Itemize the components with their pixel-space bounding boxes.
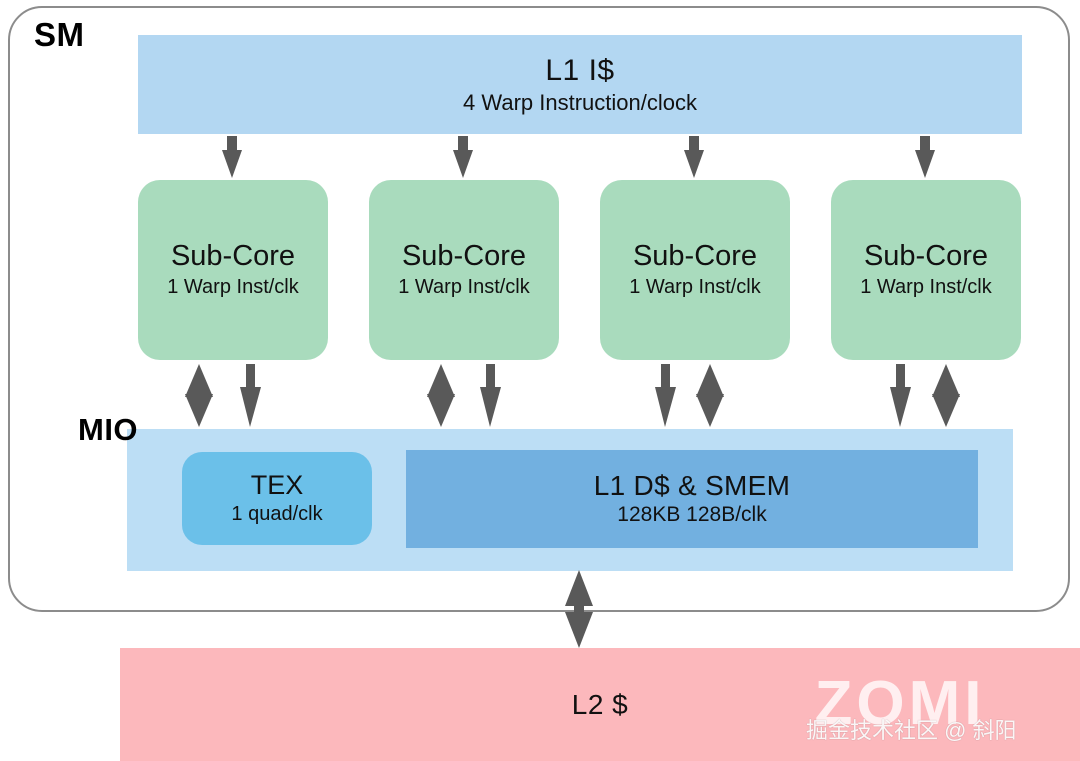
sub-core-subtitle: 1 Warp Inst/clk bbox=[167, 276, 299, 299]
sub-core-subtitle: 1 Warp Inst/clk bbox=[398, 276, 530, 299]
sub-core-title: Sub-Core bbox=[171, 241, 295, 273]
l1-instruction-cache-subtitle: 4 Warp Instruction/clock bbox=[463, 90, 697, 115]
sub-core-block-1: Sub-Core 1 Warp Inst/clk bbox=[138, 180, 328, 360]
sub-core-block-2: Sub-Core 1 Warp Inst/clk bbox=[369, 180, 559, 360]
l2-cache-title: L2 $ bbox=[572, 689, 629, 721]
tex-subtitle: 1 quad/clk bbox=[231, 503, 322, 526]
sub-core-title: Sub-Core bbox=[864, 241, 988, 273]
sub-core-subtitle: 1 Warp Inst/clk bbox=[860, 276, 992, 299]
sub-core-block-3: Sub-Core 1 Warp Inst/clk bbox=[600, 180, 790, 360]
l1-instruction-cache-title: L1 I$ bbox=[545, 54, 614, 88]
tex-title: TEX bbox=[251, 471, 304, 500]
diagram-canvas: SM L1 I$ 4 Warp Instruction/clock Sub-Co… bbox=[0, 0, 1080, 761]
tex-block: TEX 1 quad/clk bbox=[182, 452, 372, 545]
sm-label: SM bbox=[34, 16, 85, 54]
l1-data-cache-subtitle: 128KB 128B/clk bbox=[617, 503, 766, 527]
mio-label: MIO bbox=[78, 412, 138, 448]
l1-data-cache-block: L1 D$ & SMEM 128KB 128B/clk bbox=[406, 450, 978, 548]
watermark-attribution: 掘金技术社区 @ 斜阳 bbox=[806, 713, 1017, 745]
sub-core-subtitle: 1 Warp Inst/clk bbox=[629, 276, 761, 299]
sub-core-title: Sub-Core bbox=[633, 241, 757, 273]
sub-core-block-4: Sub-Core 1 Warp Inst/clk bbox=[831, 180, 1021, 360]
l1-instruction-cache-block: L1 I$ 4 Warp Instruction/clock bbox=[138, 35, 1022, 134]
l1-data-cache-title: L1 D$ & SMEM bbox=[594, 471, 791, 502]
sub-core-title: Sub-Core bbox=[402, 241, 526, 273]
